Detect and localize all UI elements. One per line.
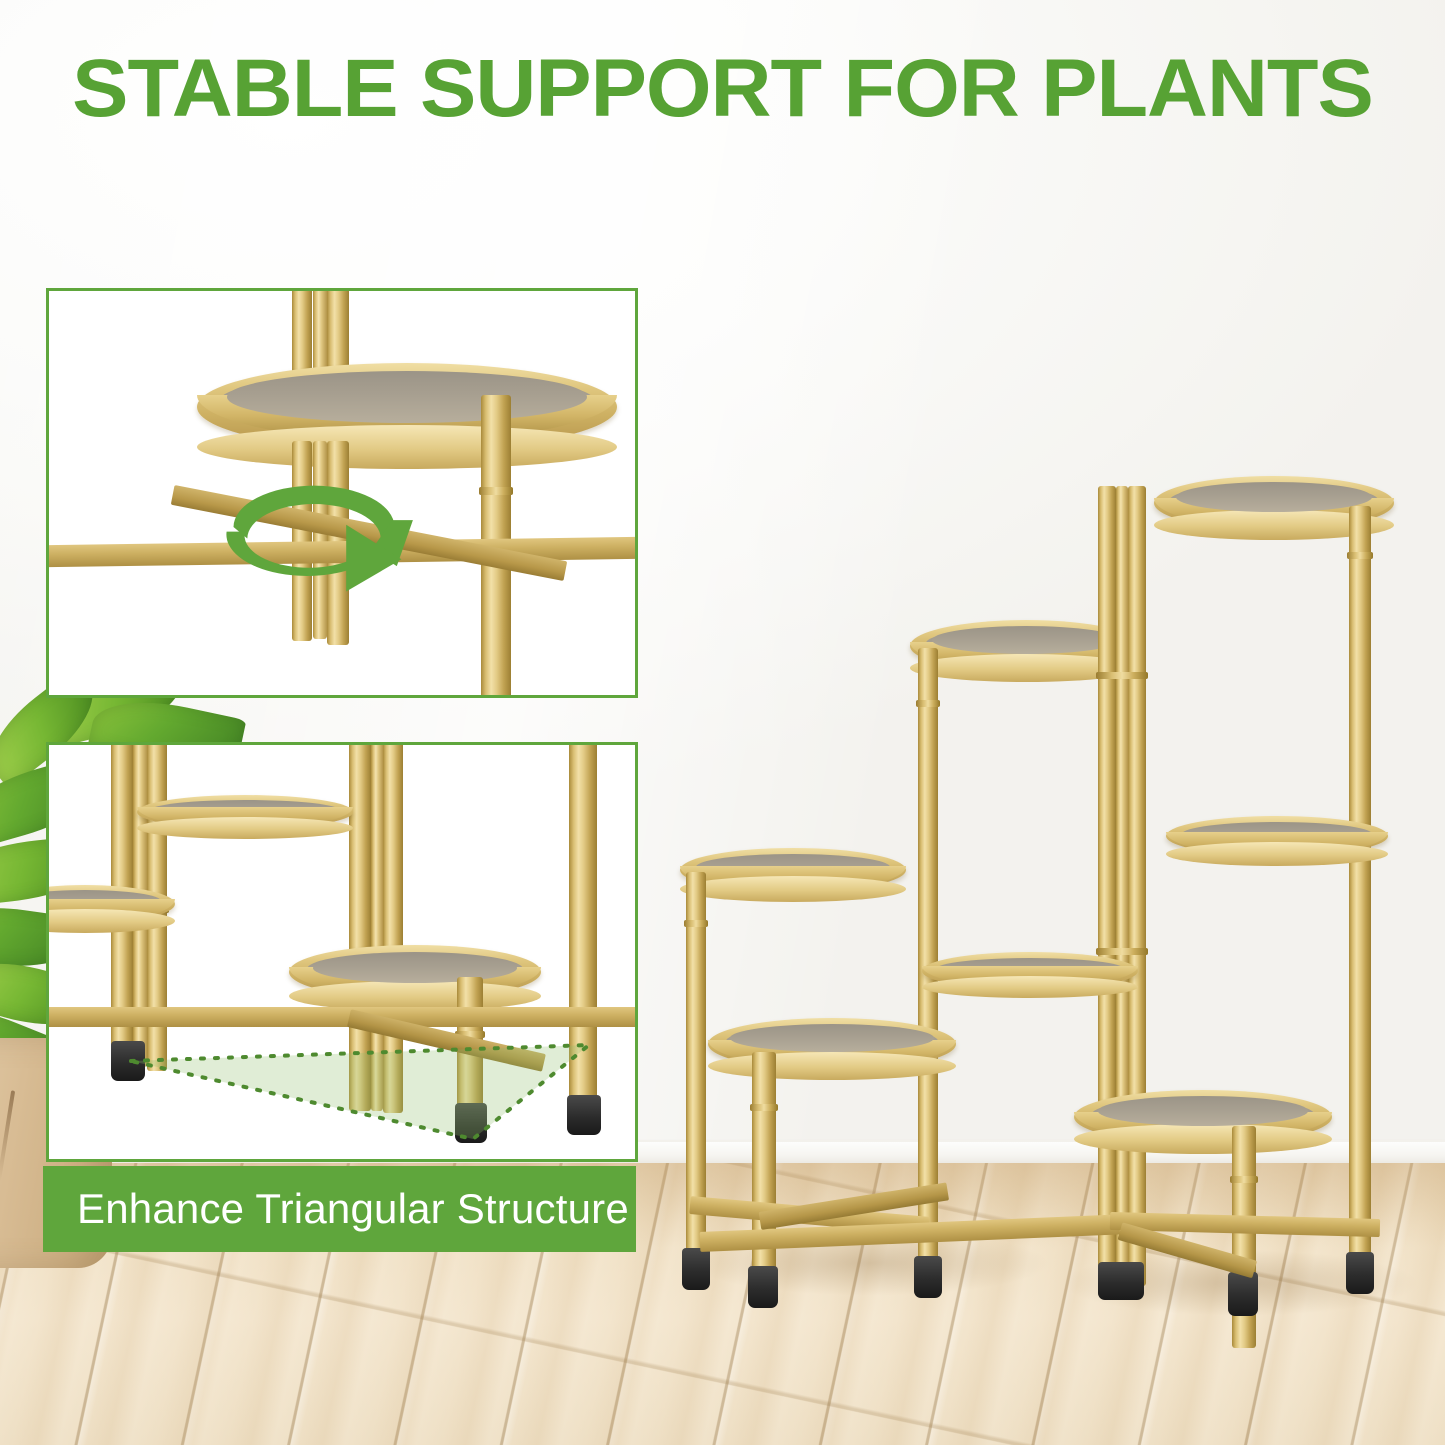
foot-cap [682,1248,710,1290]
foot-cap [1346,1252,1374,1294]
foot-cap [748,1266,778,1308]
product-marketing-image: STABLE SUPPORT FOR PLANTS [0,0,1445,1445]
foot-cap [1228,1272,1258,1316]
foot-cap [1098,1262,1144,1300]
foot-cap [914,1256,942,1298]
plant-stand-product [0,0,1445,1445]
